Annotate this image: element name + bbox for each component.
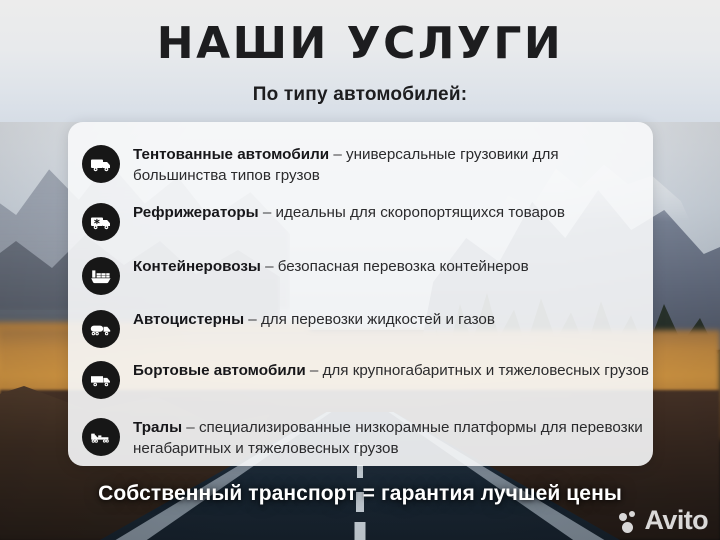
refrigerator-truck-icon — [82, 203, 120, 241]
box-truck-icon — [82, 145, 120, 183]
list-item-separator: – — [259, 204, 276, 221]
tanker-truck-icon — [82, 310, 120, 348]
list-item-text: Бортовые автомобили – для крупногабаритн… — [133, 360, 649, 381]
list-item: Автоцистерны – для перевозки жидкостей и… — [82, 309, 495, 348]
list-item-text: Тентованные автомобили – универсальные г… — [133, 144, 649, 186]
list-item-text: Рефрижераторы – идеальны для скоропортящ… — [133, 202, 565, 223]
services-list: Тентованные автомобили – универсальные г… — [68, 134, 653, 466]
list-item-separator: – — [306, 362, 323, 379]
header-band: НАШИ УСЛУГИ По типу автомобилей: — [0, 0, 720, 122]
list-item-separator: – — [261, 258, 278, 275]
list-item: Контейнеровозы – безопасная перевозка ко… — [82, 256, 529, 295]
list-item: Рефрижераторы – идеальны для скоропортящ… — [82, 202, 565, 241]
avito-watermark: Avito — [619, 507, 709, 534]
list-item-title: Рефрижераторы — [133, 204, 259, 221]
poster: НАШИ УСЛУГИ По типу автомобилей: — [0, 0, 720, 540]
avito-dots-icon — [619, 511, 641, 531]
list-item: Бортовые автомобили – для крупногабаритн… — [82, 360, 649, 399]
list-item-separator: – — [182, 419, 199, 436]
list-item-description: для перевозки жидкостей и газов — [261, 311, 495, 328]
list-item-separator: – — [329, 146, 346, 163]
list-item-text: Контейнеровозы – безопасная перевозка ко… — [133, 256, 529, 277]
list-item-text: Тралы – специализированные низкорамные п… — [133, 417, 649, 459]
avito-wordmark: Avito — [645, 507, 709, 534]
lowboy-trailer-icon — [82, 418, 120, 456]
list-item-description: для крупногабаритных и тяжеловесных груз… — [323, 362, 649, 379]
services-card: Тентованные автомобили – универсальные г… — [68, 122, 653, 466]
list-item-title: Автоцистерны — [133, 311, 244, 328]
list-item-title: Тралы — [133, 419, 182, 436]
list-item-title: Контейнеровозы — [133, 258, 261, 275]
list-item-title: Тентованные автомобили — [133, 146, 329, 163]
flatbed-truck-icon — [82, 361, 120, 399]
list-item: Тентованные автомобили – универсальные г… — [82, 144, 649, 186]
container-ship-icon — [82, 257, 120, 295]
footer-tagline: Собственный транспорт = гарантия лучшей … — [0, 482, 720, 506]
list-item-description: идеальны для скоропортящихся товаров — [276, 204, 565, 221]
list-item-separator: – — [244, 311, 261, 328]
list-item-description: специализированные низкорамные платформы… — [133, 419, 643, 457]
list-item-description: безопасная перевозка контейнеров — [278, 258, 529, 275]
list-item-text: Автоцистерны – для перевозки жидкостей и… — [133, 309, 495, 330]
page-title: НАШИ УСЛУГИ — [0, 18, 720, 69]
page-subtitle: По типу автомобилей: — [0, 84, 720, 106]
list-item: Тралы – специализированные низкорамные п… — [82, 417, 649, 459]
list-item-title: Бортовые автомобили — [133, 362, 306, 379]
